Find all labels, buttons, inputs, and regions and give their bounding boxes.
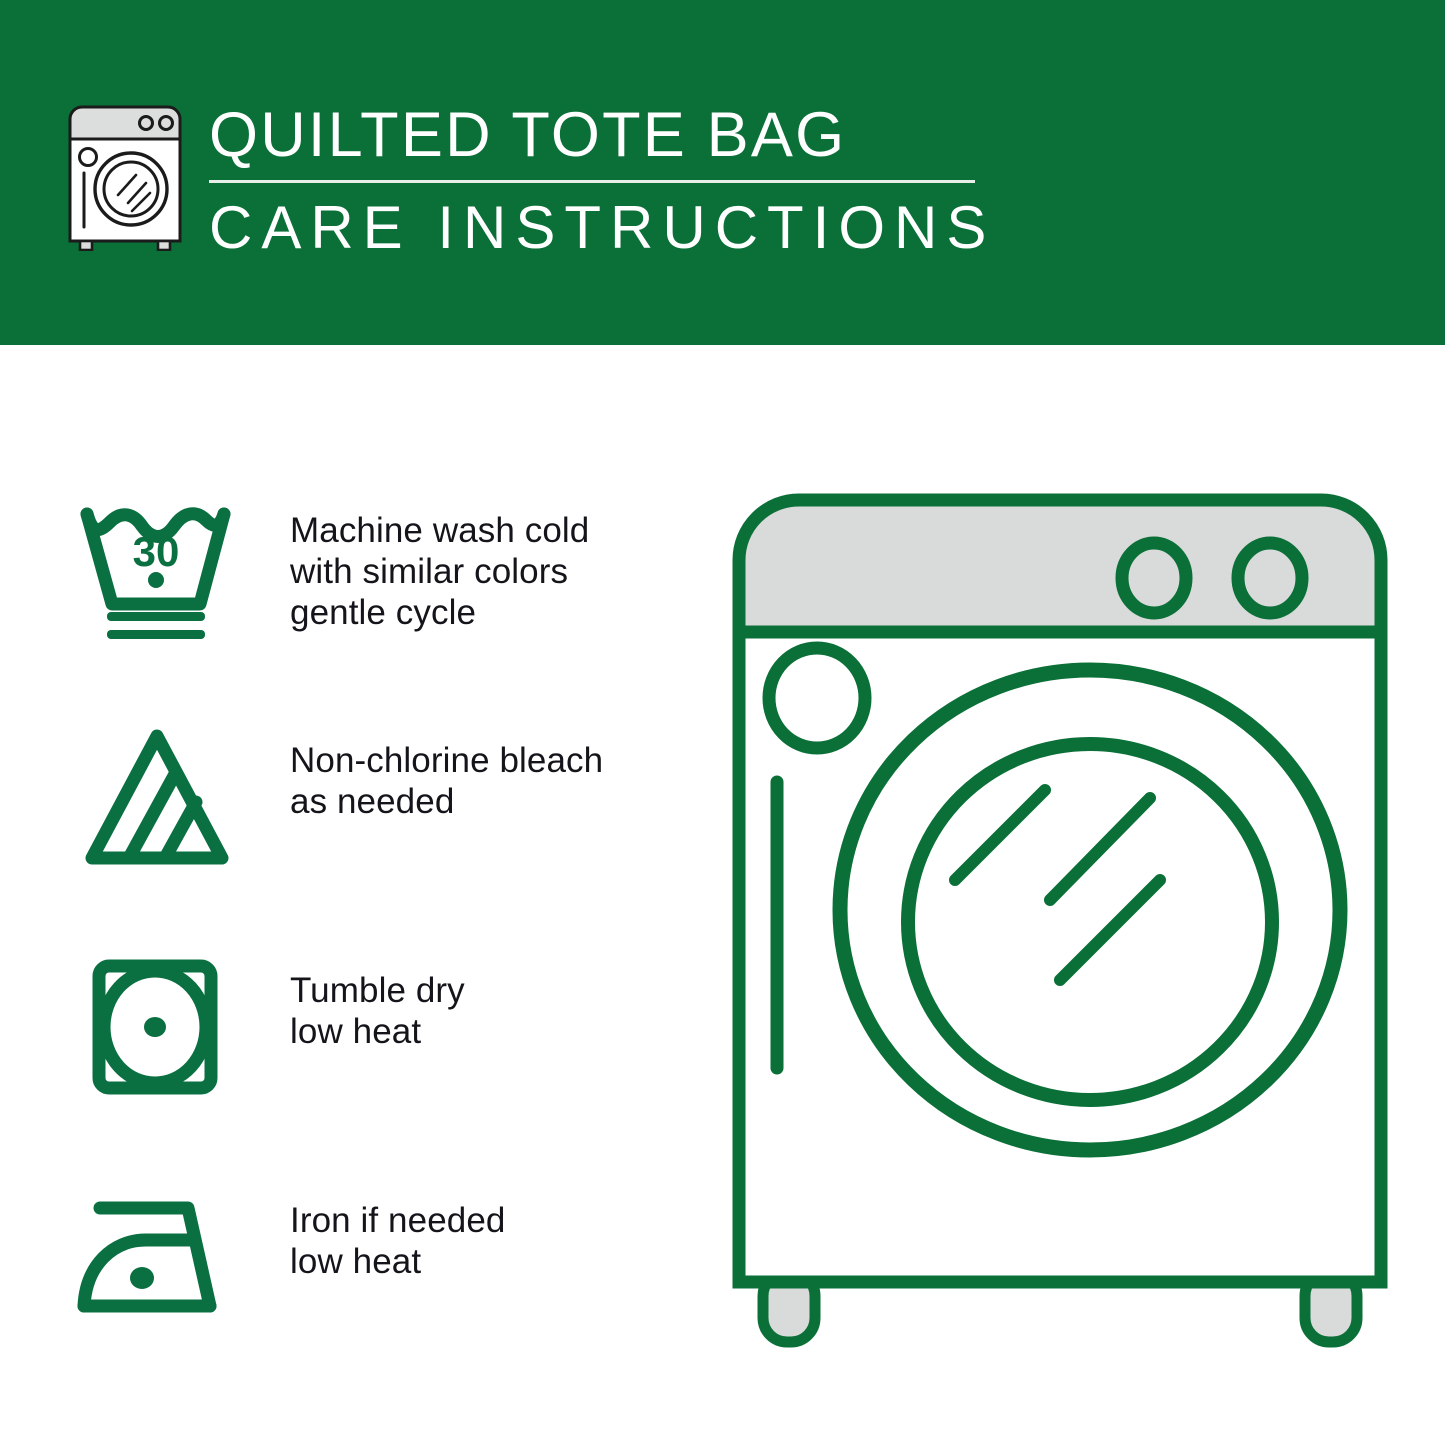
machine-wash-30-gentle-icon: 30 (72, 488, 244, 648)
page-subtitle: CARE INSTRUCTIONS (209, 195, 1209, 261)
care-line-2: with similar colors (290, 551, 690, 592)
front-load-washing-machine-illustration (700, 460, 1440, 1380)
care-text-bleach: Non-chlorine bleach as needed (290, 740, 690, 822)
care-line-1: Tumble dry (290, 970, 690, 1011)
care-line-1: Iron if needed (290, 1200, 690, 1241)
care-line-3: gentle cycle (290, 592, 690, 633)
care-line-1: Machine wash cold (290, 510, 690, 551)
care-text-machine-wash: Machine wash cold with similar colors ge… (290, 510, 690, 633)
care-line-2: as needed (290, 781, 690, 822)
care-line-2: low heat (290, 1241, 690, 1282)
page-title: QUILTED TOTE BAG (209, 100, 1209, 170)
wash-temperature-label: 30 (133, 528, 180, 575)
iron-low-heat-icon (72, 1178, 244, 1338)
care-instruction-list: 30 Machine wash cold with similar colors… (60, 488, 700, 1408)
header-text-block: QUILTED TOTE BAG CARE INSTRUCTIONS (209, 100, 1209, 261)
care-row-iron: Iron if needed low heat (60, 1178, 700, 1408)
care-instructions-page: QUILTED TOTE BAG CARE INSTRUCTIONS (0, 0, 1445, 1445)
care-row-bleach: Non-chlorine bleach as needed (60, 718, 700, 948)
care-line-2: low heat (290, 1011, 690, 1052)
care-line-1: Non-chlorine bleach (290, 740, 690, 781)
care-text-tumble-dry: Tumble dry low heat (290, 970, 690, 1052)
header-band: QUILTED TOTE BAG CARE INSTRUCTIONS (0, 0, 1445, 345)
tumble-dry-low-icon (72, 948, 244, 1108)
washing-machine-icon (66, 103, 184, 251)
title-divider (209, 180, 975, 183)
care-row-machine-wash: 30 Machine wash cold with similar colors… (60, 488, 700, 718)
care-row-tumble-dry: Tumble dry low heat (60, 948, 700, 1178)
care-text-iron: Iron if needed low heat (290, 1200, 690, 1282)
non-chlorine-bleach-icon (72, 718, 244, 878)
machine-body (739, 632, 1381, 1282)
